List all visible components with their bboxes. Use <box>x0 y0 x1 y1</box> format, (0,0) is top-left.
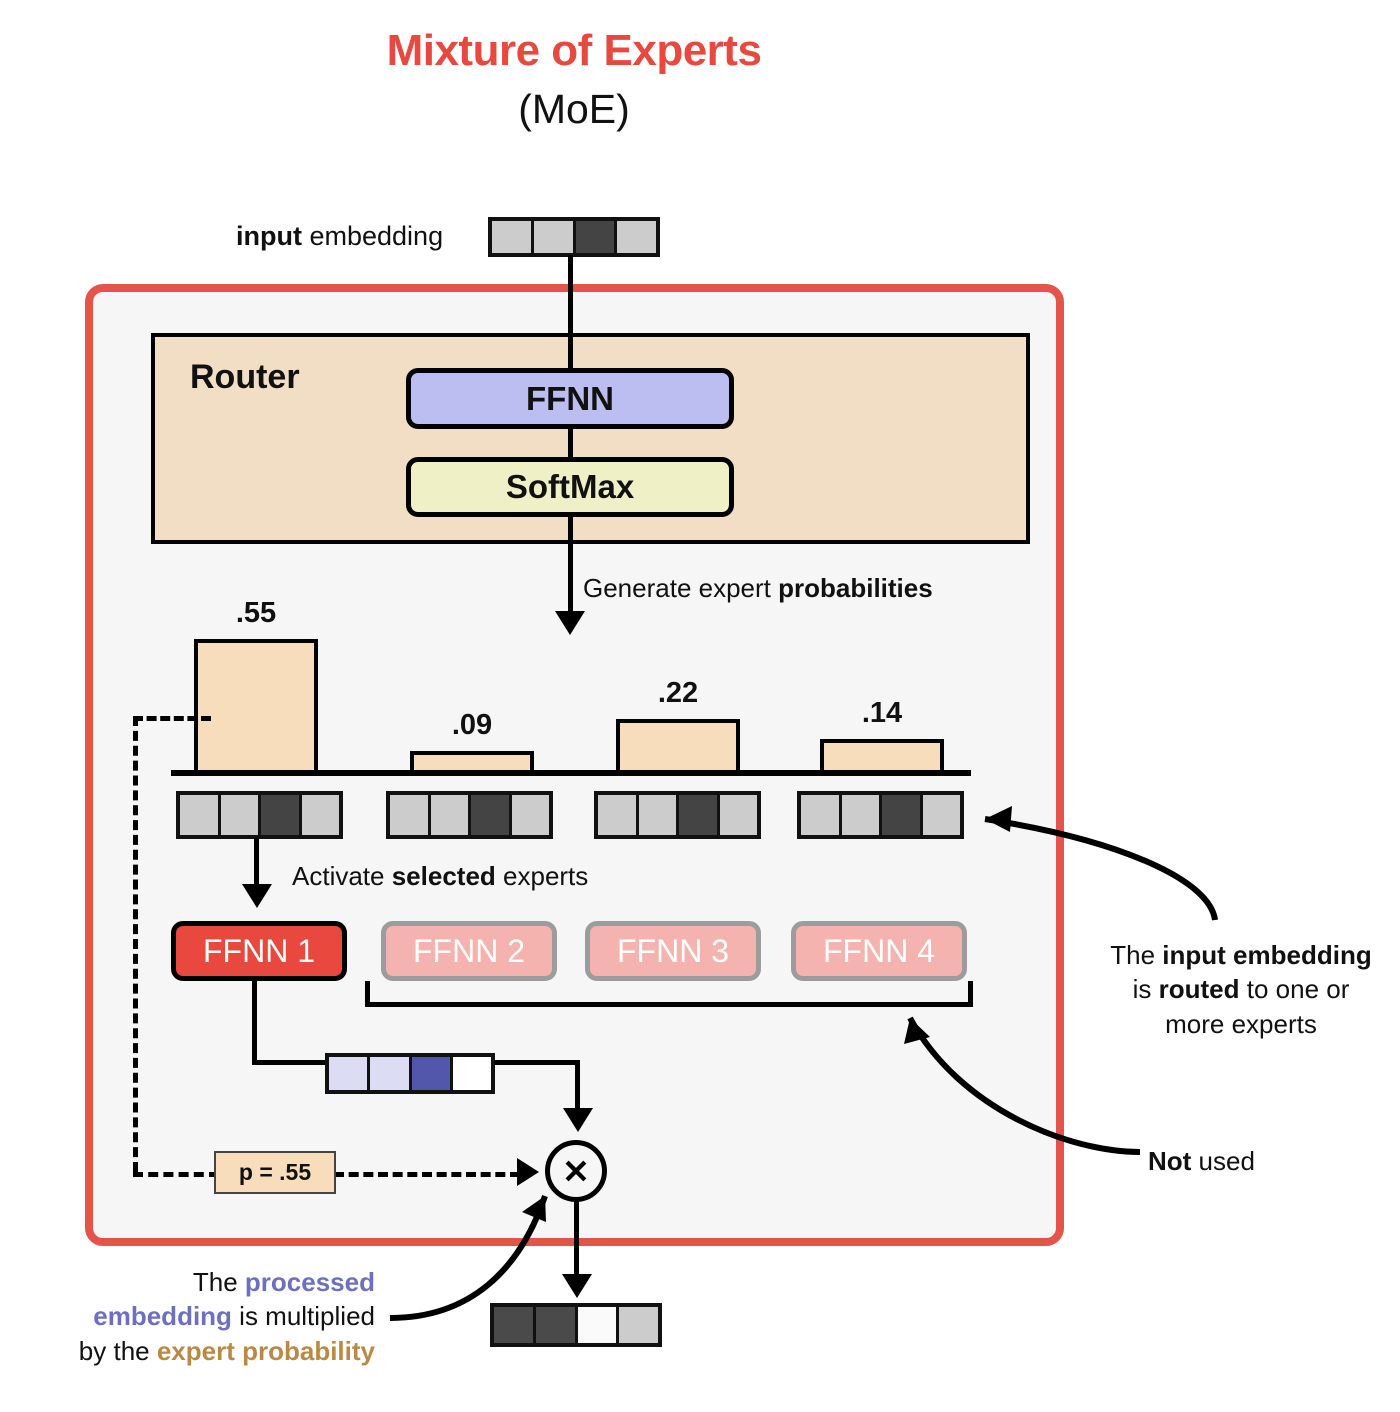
anno-notused-rest: used <box>1191 1146 1255 1176</box>
input-to-router-line <box>568 255 573 370</box>
expert-embedding-2-cell-3 <box>471 795 509 835</box>
expert-embedding-block-4 <box>797 791 964 839</box>
anno-routed2-post: to one or <box>1240 974 1350 1004</box>
prob-dashed-line-bottom-b <box>334 1172 520 1177</box>
anno-mult3-em: expert probability <box>157 1336 375 1366</box>
probability-bar-label-2: .09 <box>410 709 534 742</box>
expert-ffnn-2[interactable]: FFNN 2 <box>381 921 557 981</box>
processed-embedding-cell-3 <box>412 1057 450 1090</box>
anno-mult-pre: The <box>193 1267 245 1297</box>
expert-embedding-1-cell-4 <box>302 795 340 835</box>
anno-routed2-pre: is <box>1133 974 1159 1004</box>
router-title: Router <box>190 358 300 397</box>
anno-mult3-pre: by the <box>79 1336 157 1366</box>
probability-bar-1 <box>194 639 318 773</box>
caption-activate-post: experts <box>496 861 589 891</box>
processed-embedding-block <box>325 1053 495 1094</box>
multiply-output-arrowhead <box>562 1274 592 1298</box>
caption-generate-probabilities: Generate expert probabilities <box>583 573 933 604</box>
prob-dashed-line-top <box>133 716 211 721</box>
prob-dashed-line-bottom-a <box>133 1172 219 1177</box>
output-embedding-block <box>490 1303 662 1347</box>
probability-bar-3 <box>616 719 740 773</box>
expert-embedding-block-2 <box>386 791 553 839</box>
caption-generate-bold: probabilities <box>778 573 933 603</box>
softmax-output-arrowhead <box>555 611 585 635</box>
processed-to-multiply-arrowhead <box>563 1108 593 1132</box>
annotation-routed-line2: is routed to one or <box>1085 972 1397 1006</box>
router-ffnn-box[interactable]: FFNN <box>406 368 734 429</box>
expert-embedding-block-3 <box>594 791 761 839</box>
expert-embedding-3-cell-2 <box>639 795 677 835</box>
anno-routed2-bold: routed <box>1159 974 1240 1004</box>
anno-mult-em2: embedding <box>93 1301 232 1331</box>
input-embedding-cell-4 <box>617 221 656 253</box>
caption-activate-pre: Activate <box>292 861 392 891</box>
probability-bar-4 <box>820 739 944 773</box>
input-embedding-cell-2 <box>534 221 573 253</box>
input-label-rest: embedding <box>302 221 443 251</box>
diagram-canvas: Mixture of Experts (MoE) input embedding… <box>0 0 1400 1412</box>
probability-bar-label-3: .22 <box>616 677 740 710</box>
embedding-to-expert1-line <box>254 838 259 890</box>
output-embedding-cell-3 <box>578 1307 617 1343</box>
output-embedding-cell-4 <box>619 1307 658 1343</box>
processed-embedding-cell-2 <box>370 1057 408 1090</box>
expert-embedding-4-cell-3 <box>882 795 920 835</box>
anno-mult-post: is multiplied <box>232 1301 375 1331</box>
probability-value-box: p = .55 <box>214 1151 336 1194</box>
annotation-multiplied-line1: The processed <box>30 1265 375 1299</box>
output-embedding-cell-2 <box>536 1307 575 1343</box>
expert-embedding-4-cell-4 <box>923 795 961 835</box>
expert-embedding-1-cell-2 <box>221 795 259 835</box>
expert-embedding-4-cell-2 <box>842 795 880 835</box>
unused-experts-bracket <box>365 981 973 1007</box>
annotation-multiplied-line2: embedding is multiplied <box>30 1299 375 1333</box>
anno-routed-pre: The <box>1110 940 1162 970</box>
caption-generate-pre: Generate expert <box>583 573 778 603</box>
multiply-node: ✕ <box>545 1140 607 1202</box>
expert1-output-line-horizontal <box>252 1060 329 1065</box>
expert-embedding-2-cell-4 <box>512 795 550 835</box>
processed-embedding-cell-4 <box>453 1057 491 1090</box>
prob-to-multiply-arrowhead <box>517 1158 539 1186</box>
annotation-routed-line1: The input embedding <box>1085 938 1397 972</box>
expert-ffnn-4[interactable]: FFNN 4 <box>791 921 967 981</box>
expert-embedding-3-cell-1 <box>598 795 636 835</box>
page-title: Mixture of Experts <box>0 26 1148 76</box>
processed-to-multiply-line-h <box>494 1060 580 1065</box>
output-embedding-cell-1 <box>494 1307 533 1343</box>
input-embedding-cell-3 <box>576 221 615 253</box>
input-embedding-block <box>488 217 660 257</box>
expert-embedding-2-cell-1 <box>390 795 428 835</box>
processed-embedding-cell-1 <box>329 1057 367 1090</box>
embedding-to-expert1-arrowhead <box>242 884 272 908</box>
expert-embedding-block-1 <box>176 791 343 839</box>
probability-bar-label-1: .55 <box>194 597 318 630</box>
page-subtitle: (MoE) <box>0 86 1148 133</box>
chart-baseline <box>171 770 971 776</box>
annotation-multiplied-line3: by the expert probability <box>30 1334 375 1368</box>
expert-embedding-3-cell-4 <box>720 795 758 835</box>
multiply-output-line <box>574 1200 579 1280</box>
expert-ffnn-1[interactable]: FFNN 1 <box>171 921 347 981</box>
annotation-routed: The input embedding is routed to one or … <box>1085 938 1397 1041</box>
processed-to-multiply-line-v <box>575 1060 580 1112</box>
expert1-output-line-vertical <box>252 978 257 1064</box>
anno-notused-bold: Not <box>1148 1146 1191 1176</box>
softmax-output-line <box>568 515 573 615</box>
expert-embedding-3-cell-3 <box>679 795 717 835</box>
anno-routed-bold: input embedding <box>1162 940 1371 970</box>
probability-bar-label-4: .14 <box>820 697 944 730</box>
caption-activate-bold: selected <box>392 861 496 891</box>
input-embedding-label: input embedding <box>236 221 443 252</box>
caption-activate-experts: Activate selected experts <box>292 861 588 892</box>
router-softmax-box[interactable]: SoftMax <box>406 457 734 517</box>
expert-embedding-1-cell-1 <box>180 795 218 835</box>
prob-dashed-line-left <box>133 716 138 1172</box>
input-embedding-cell-1 <box>492 221 531 253</box>
annotation-routed-line3: more experts <box>1085 1007 1397 1041</box>
ffnn-to-softmax-line <box>568 427 573 459</box>
input-label-bold: input <box>236 221 302 251</box>
expert-ffnn-3[interactable]: FFNN 3 <box>585 921 761 981</box>
anno-mult-em1: processed <box>245 1267 375 1297</box>
annotation-multiplied: The processed embedding is multiplied by… <box>30 1265 375 1368</box>
expert-embedding-4-cell-1 <box>801 795 839 835</box>
expert-embedding-2-cell-2 <box>431 795 469 835</box>
annotation-not-used: Not used <box>1148 1144 1255 1178</box>
expert-embedding-1-cell-3 <box>261 795 299 835</box>
